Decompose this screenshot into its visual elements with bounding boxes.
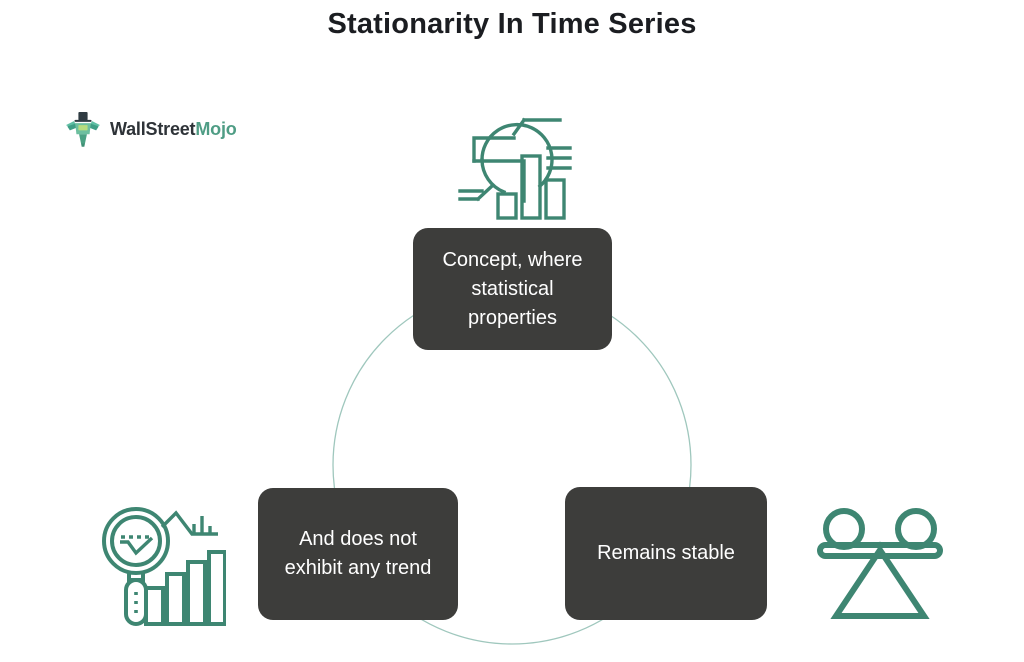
logo-text-primary: WallStreet (110, 119, 195, 139)
page-title: Stationarity In Time Series (0, 8, 1024, 41)
node-box-left[interactable]: And does not exhibit any trend (258, 488, 458, 620)
node-label-top: Concept, where statistical properties (425, 246, 600, 333)
brand-logo: WallStreetMojo (62, 108, 237, 150)
node-box-right[interactable]: Remains stable (565, 487, 767, 620)
node-box-top[interactable]: Concept, where statistical properties (413, 228, 612, 350)
pie-bar-chart-icon (452, 98, 582, 220)
balance-scale-icon (812, 504, 948, 622)
node-label-left: And does not exhibit any trend (270, 525, 446, 583)
logo-text: WallStreetMojo (110, 119, 237, 140)
magnifier-bar-chart-icon (96, 500, 226, 632)
top-hat-figure-icon (62, 108, 104, 150)
infographic-canvas: Stationarity In Time Series WallStreetMo… (0, 0, 1024, 662)
balance-pivot-dot (877, 542, 883, 548)
node-label-right: Remains stable (597, 539, 735, 568)
logo-text-secondary: Mojo (195, 119, 236, 139)
